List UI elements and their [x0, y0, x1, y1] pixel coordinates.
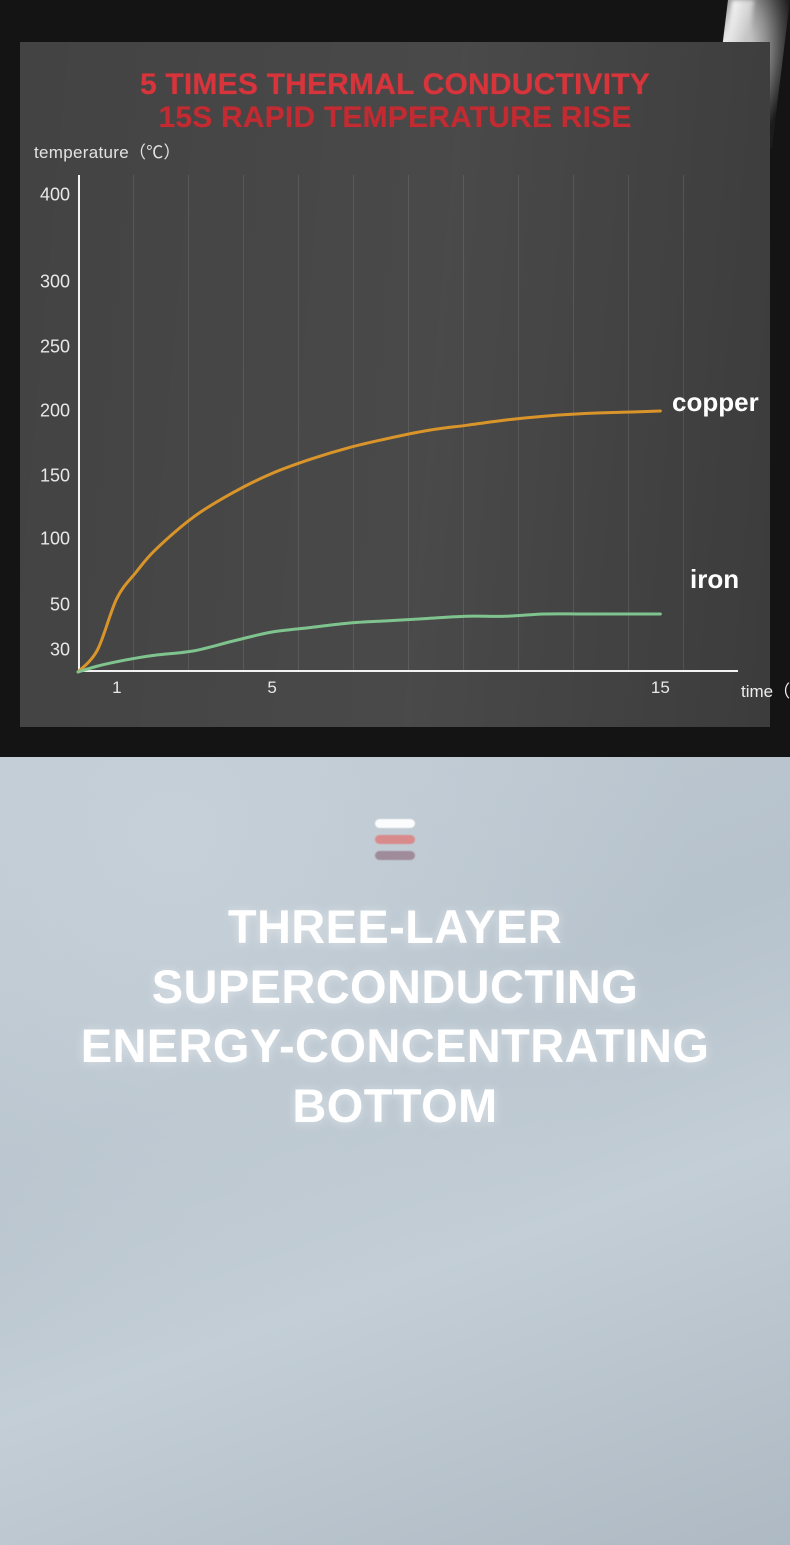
series-curves [78, 175, 738, 672]
deco-bar-purple [375, 851, 415, 860]
product-headline: THREE-LAYERSUPERCONDUCTINGENERGY-CONCENT… [0, 897, 790, 1136]
plot-area: 4003002502001501005030 1515 copper iron … [78, 175, 738, 672]
y-tick-200: 200 [40, 401, 70, 422]
chart-panel: 5 TIMES THERMAL CONDUCTIVITY 15S RAPID T… [20, 42, 770, 727]
y-tick-100: 100 [40, 529, 70, 550]
headline-line-2: SUPERCONDUCTING [0, 957, 790, 1017]
deco-bar-red [375, 835, 415, 844]
chart-title-line-1: 5 TIMES THERMAL CONDUCTIVITY [20, 68, 770, 102]
chart-title-line-2: 15S RAPID TEMPERATURE RISE [20, 101, 770, 135]
y-tick-300: 300 [40, 272, 70, 293]
x-tick-1: 1 [112, 678, 121, 698]
headline-line-1: THREE-LAYER [0, 897, 790, 957]
x-axis-title: time（秒） [741, 677, 790, 702]
x-tick-5: 5 [267, 678, 276, 698]
deco-bar-white [375, 819, 415, 828]
headline-line-3: ENERGY-CONCENTRATING [0, 1016, 790, 1076]
series-label-copper: copper [672, 387, 759, 418]
y-axis-title: temperature（℃） [34, 138, 181, 163]
y-tick-150: 150 [40, 466, 70, 487]
series-label-iron: iron [690, 564, 739, 595]
decorative-bars-icon [0, 819, 790, 860]
y-tick-400: 400 [40, 185, 70, 206]
series-line-copper [78, 411, 660, 672]
product-feature-section: THREE-LAYERSUPERCONDUCTINGENERGY-CONCENT… [0, 757, 790, 1545]
y-tick-250: 250 [40, 337, 70, 358]
thermal-conductivity-chart-section: 5 TIMES THERMAL CONDUCTIVITY 15S RAPID T… [0, 0, 790, 757]
y-tick-30: 30 [50, 640, 70, 661]
headline-line-4: BOTTOM [0, 1076, 790, 1136]
y-tick-50: 50 [50, 595, 70, 616]
series-line-iron [78, 614, 660, 672]
x-tick-15: 15 [651, 678, 670, 698]
